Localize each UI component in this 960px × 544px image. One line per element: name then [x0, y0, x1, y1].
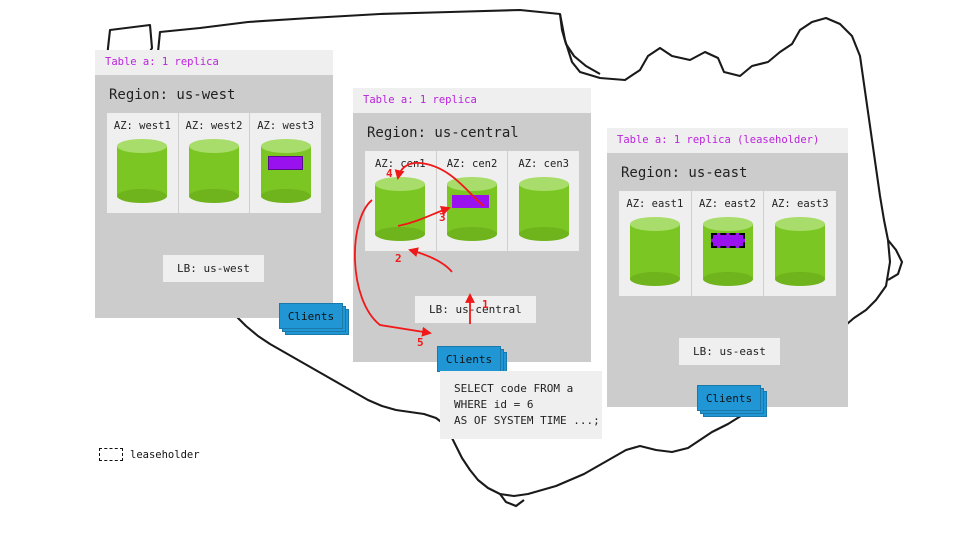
cylinder-west1[interactable]	[117, 139, 167, 203]
region-body-us-west: Region: us-west AZ: west1 AZ: west2	[95, 75, 333, 318]
az-label-east1: AZ: east1	[626, 198, 683, 210]
az-row-us-central: AZ: cen1 AZ: cen2	[365, 151, 579, 251]
clients-stack-front[interactable]: Clients	[697, 385, 761, 411]
cylinder-bottom	[375, 227, 425, 241]
region-panel-us-west: Table a: 1 replica Region: us-west AZ: w…	[95, 50, 333, 318]
cylinder-cen2[interactable]	[447, 177, 497, 241]
cylinder-top	[519, 177, 569, 191]
az-row-us-west: AZ: west1 AZ: west2 AZ	[107, 113, 321, 213]
lb-us-west[interactable]: LB: us-west	[163, 255, 264, 282]
cylinder-west3[interactable]	[261, 139, 311, 203]
cylinder-top	[261, 139, 311, 153]
region-body-us-central: Region: us-central AZ: cen1 AZ: cen2	[353, 113, 591, 362]
az-label-east3: AZ: east3	[772, 198, 829, 210]
cylinder-bottom	[189, 189, 239, 203]
clients-us-east[interactable]: Clients	[697, 385, 759, 409]
cylinder-bottom	[447, 227, 497, 241]
az-label-east2: AZ: east2	[699, 198, 756, 210]
az-cell-cen3[interactable]: AZ: cen3	[508, 151, 579, 251]
replica-cen2[interactable]	[452, 195, 489, 208]
az-cell-west2[interactable]: AZ: west2	[179, 113, 251, 213]
region-title-us-central: Region: us-central	[353, 113, 591, 151]
cylinder-cen3[interactable]	[519, 177, 569, 241]
az-cell-east2[interactable]: AZ: east2	[692, 191, 765, 296]
az-label-cen2: AZ: cen2	[447, 158, 498, 170]
az-cell-west1[interactable]: AZ: west1	[107, 113, 179, 213]
region-title-us-west: Region: us-west	[95, 75, 333, 113]
cylinder-top	[375, 177, 425, 191]
cylinder-east1[interactable]	[630, 217, 680, 286]
clients-stack-front[interactable]: Clients	[279, 303, 343, 329]
region-panel-us-east: Table a: 1 replica (leaseholder) Region:…	[607, 128, 848, 407]
cylinder-top	[703, 217, 753, 231]
az-label-cen3: AZ: cen3	[518, 158, 569, 170]
cylinder-body	[630, 224, 680, 279]
cylinder-cen1[interactable]	[375, 177, 425, 241]
step-number-3: 3	[439, 211, 446, 224]
step-number-5: 5	[417, 336, 424, 349]
clients-us-west[interactable]: Clients	[279, 303, 341, 327]
sql-query-box: SELECT code FROM a WHERE id = 6 AS OF SY…	[440, 371, 602, 439]
az-label-west1: AZ: west1	[114, 120, 171, 132]
az-row-us-east: AZ: east1 AZ: east2	[619, 191, 836, 296]
az-label-cen1: AZ: cen1	[375, 158, 426, 170]
dashed-rect-icon	[99, 448, 123, 461]
cylinder-top	[775, 217, 825, 231]
step-number-1: 1	[482, 298, 489, 311]
cylinder-west2[interactable]	[189, 139, 239, 203]
clients-stack-front[interactable]: Clients	[437, 346, 501, 372]
az-label-west2: AZ: west2	[186, 120, 243, 132]
cylinder-bottom	[261, 189, 311, 203]
table-header-us-west: Table a: 1 replica	[95, 50, 333, 75]
step-number-2: 2	[395, 252, 402, 265]
cylinder-top	[117, 139, 167, 153]
az-cell-cen2[interactable]: AZ: cen2	[437, 151, 509, 251]
cylinder-bottom	[117, 189, 167, 203]
cylinder-east3[interactable]	[775, 217, 825, 286]
cylinder-east2[interactable]	[703, 217, 753, 286]
table-header-us-east: Table a: 1 replica (leaseholder)	[607, 128, 848, 153]
clients-label-us-central: Clients	[446, 353, 492, 366]
clients-label-us-west: Clients	[288, 310, 334, 323]
region-body-us-east: Region: us-east AZ: east1 AZ: east2	[607, 153, 848, 407]
az-label-west3: AZ: west3	[257, 120, 314, 132]
az-cell-cen1[interactable]: AZ: cen1	[365, 151, 437, 251]
cylinder-top	[630, 217, 680, 231]
legend-label: leaseholder	[130, 449, 200, 461]
cylinder-bottom	[775, 272, 825, 286]
lb-us-central[interactable]: LB: us-central	[415, 296, 536, 323]
replica-west3[interactable]	[268, 156, 303, 170]
az-cell-east3[interactable]: AZ: east3	[764, 191, 836, 296]
az-cell-east1[interactable]: AZ: east1	[619, 191, 692, 296]
lb-us-east[interactable]: LB: us-east	[679, 338, 780, 365]
clients-us-central[interactable]: Clients	[437, 346, 499, 370]
cylinder-top	[447, 177, 497, 191]
region-title-us-east: Region: us-east	[607, 153, 848, 191]
cylinder-bottom	[519, 227, 569, 241]
cylinder-bottom	[703, 272, 753, 286]
replica-east2-leaseholder[interactable]	[711, 233, 745, 248]
clients-label-us-east: Clients	[706, 392, 752, 405]
cylinder-top	[189, 139, 239, 153]
cylinder-bottom	[630, 272, 680, 286]
az-cell-west3[interactable]: AZ: west3	[250, 113, 321, 213]
table-header-us-central: Table a: 1 replica	[353, 88, 591, 113]
region-panel-us-central: Table a: 1 replica Region: us-central AZ…	[353, 88, 591, 362]
step-number-4: 4	[386, 167, 393, 180]
legend: leaseholder	[99, 448, 200, 461]
cylinder-body	[775, 224, 825, 279]
